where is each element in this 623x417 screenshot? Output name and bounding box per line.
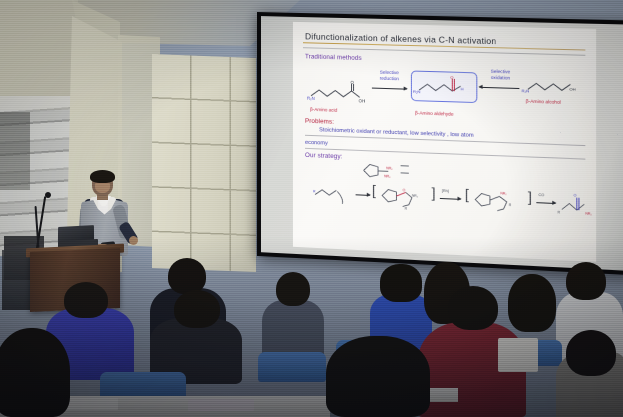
attendee-blue-top-head xyxy=(380,264,422,302)
label-beta-amino-aldehyde: β-Amino aldehyde xyxy=(415,110,453,116)
bracket-close-2: ] xyxy=(528,189,532,204)
svg-text:OH: OH xyxy=(359,98,365,103)
svg-text:R: R xyxy=(509,203,512,207)
attendee-front-center-head xyxy=(326,336,430,417)
svg-text:R₂N: R₂N xyxy=(307,96,315,101)
structure-beta-amino-aldehyde: O R₂N H xyxy=(413,74,473,100)
label-mech-reagent-2: CO xyxy=(538,193,544,198)
structure-product: O NR₂ R xyxy=(558,188,609,219)
svg-text:NR₂: NR₂ xyxy=(386,166,393,170)
arrow-mech-3 xyxy=(536,202,555,204)
attendee-long-hair-2-head xyxy=(508,274,556,332)
lecture-hall-photo: Difunctionalization of alkenes via C-N a… xyxy=(0,0,623,417)
structure-beta-amino-acid: O R₂N OH xyxy=(307,80,370,108)
upper-left-wall xyxy=(0,0,78,110)
svg-text:R: R xyxy=(313,189,316,193)
structure-alkene-substrate: R xyxy=(313,180,353,204)
attendee-grey-right-head xyxy=(276,272,310,306)
label-beta-amino-acid: β-Amino acid xyxy=(310,107,337,113)
svg-text:R: R xyxy=(558,210,561,214)
svg-text:R₂N: R₂N xyxy=(413,89,421,94)
attendee-front-right-head xyxy=(566,330,616,376)
bracket-close-1: ] xyxy=(432,185,436,199)
paper-2 xyxy=(188,399,254,411)
left-slat-shadow xyxy=(0,112,30,190)
bracket-open-2: [ xyxy=(465,186,469,201)
svg-text:NR₂: NR₂ xyxy=(412,193,419,197)
attendee-white-shirt-head xyxy=(566,262,606,300)
arrow-mech-2 xyxy=(440,198,461,200)
projection-screen-frame: Difunctionalization of alkenes via C-N a… xyxy=(257,12,623,275)
podium-microphone-head xyxy=(45,192,51,198)
svg-text:H: H xyxy=(461,86,464,91)
svg-text:NR₂: NR₂ xyxy=(384,174,391,178)
attendee-blue-jacket-head xyxy=(64,282,108,318)
svg-text:O: O xyxy=(574,193,577,197)
svg-text:O: O xyxy=(403,188,406,192)
attendee-black-coat-head xyxy=(174,290,220,328)
svg-text:NR₂: NR₂ xyxy=(585,211,592,215)
structure-intermediate-1: O NR₂ R xyxy=(378,183,432,212)
svg-text:O: O xyxy=(450,75,453,80)
attendee-dark-suit-head xyxy=(168,258,206,294)
chair-mid-1 xyxy=(258,352,326,382)
svg-text:NR₂: NR₂ xyxy=(500,191,507,195)
attendee-maroon-hoodie-head xyxy=(448,286,498,330)
bracket-open-1: [ xyxy=(372,183,376,197)
attendee-front-left-head xyxy=(0,328,70,417)
acoustic-panel-grid xyxy=(152,54,256,272)
bag-foreground xyxy=(498,338,538,372)
arrow-reduction xyxy=(372,88,407,90)
traditional-methods-scheme: O R₂N OH β-Amino acid Selective reductio… xyxy=(305,61,585,127)
label-mech-reagent-1: [Rh] xyxy=(442,189,449,194)
label-selective-reduction: Selective reduction xyxy=(372,69,407,82)
structure-intermediate-2: NR₂ R xyxy=(471,185,528,216)
svg-text:R₂N: R₂N xyxy=(522,88,530,93)
arrow-mech-1 xyxy=(356,194,370,196)
label-beta-amino-alcohol: β-Amino alcohol xyxy=(526,99,561,105)
structure-beta-amino-alcohol: R₂N OH xyxy=(522,75,584,100)
label-selective-oxidation: Selective oxidation xyxy=(482,69,520,82)
presenter-hair xyxy=(90,170,115,183)
presenter-right-hand xyxy=(129,236,138,245)
arrow-oxidation xyxy=(479,87,519,89)
svg-text:OH: OH xyxy=(569,87,576,92)
projection-screen-surface: Difunctionalization of alkenes via C-N a… xyxy=(261,16,623,271)
svg-text:R: R xyxy=(405,206,408,210)
structure-catalyst-complex: NR₂ NR₂ xyxy=(358,160,417,183)
strategy-mechanism-scheme: NR₂ NR₂ R [ xyxy=(305,160,585,225)
presentation-slide: Difunctionalization of alkenes via C-N a… xyxy=(293,22,596,262)
